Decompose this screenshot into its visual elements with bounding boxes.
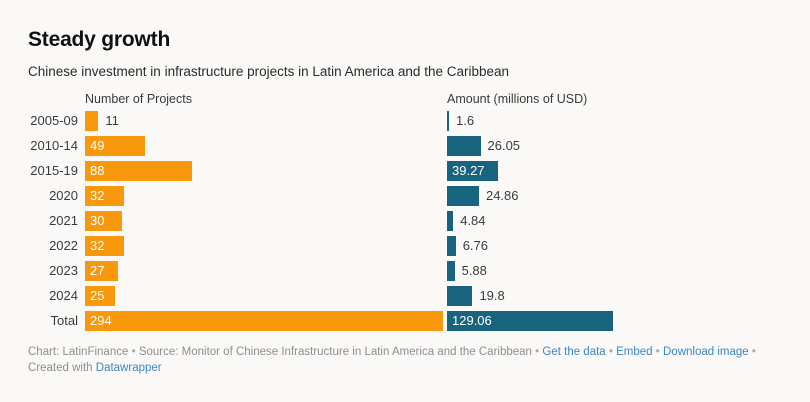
bar-amount[interactable]: [447, 286, 472, 306]
footer-separator: •: [752, 346, 756, 358]
bar-value-label: 19.8: [479, 286, 504, 306]
chart-subtitle: Chinese investment in infrastructure pro…: [28, 63, 509, 81]
bar-track-projects: 294: [85, 311, 445, 331]
bar-track-amount: 4.84: [447, 211, 800, 231]
bar-value-label: 39.27: [452, 161, 485, 181]
bar-projects[interactable]: [85, 311, 443, 331]
bar-track-amount: 6.76: [447, 236, 800, 256]
chart-row: 20203224.86: [0, 185, 810, 210]
row-label: 2024: [0, 285, 78, 307]
row-label: 2020: [0, 185, 78, 207]
embed-link[interactable]: Embed: [616, 346, 652, 358]
row-label: Total: [0, 310, 78, 332]
bar-value-label: 4.84: [460, 211, 485, 231]
page-title: Steady growth: [28, 27, 170, 53]
bar-value-label: 129.06: [452, 311, 492, 331]
row-label: 2005-09: [0, 110, 78, 132]
bar-amount[interactable]: [447, 136, 481, 156]
row-label: 2022: [0, 235, 78, 257]
bar-value-label: 26.05: [488, 136, 521, 156]
datawrapper-link[interactable]: Datawrapper: [96, 362, 162, 374]
bar-track-projects: 32: [85, 236, 445, 256]
chart-rows: 2005-09111.62010-144926.052015-198839.27…: [0, 110, 810, 335]
chart-footer: Chart: LatinFinance • Source: Monitor of…: [28, 344, 788, 376]
bar-track-projects: 32: [85, 186, 445, 206]
bar-amount[interactable]: [447, 111, 449, 131]
chart-row: 2021304.84: [0, 210, 810, 235]
download-image-link[interactable]: Download image: [663, 346, 749, 358]
bar-value-label: 11: [105, 111, 119, 131]
bar-track-amount: 129.06: [447, 311, 800, 331]
footer-separator: •: [656, 346, 660, 358]
bar-track-projects: 49: [85, 136, 445, 156]
bar-track-amount: 24.86: [447, 186, 800, 206]
bar-value-label: 294: [90, 311, 112, 331]
chart-row: Total294129.06: [0, 310, 810, 335]
column-header-projects: Number of Projects: [85, 91, 192, 107]
bar-value-label: 30: [90, 211, 104, 231]
chart-row: 20242519.8: [0, 285, 810, 310]
bar-value-label: 6.76: [463, 236, 488, 256]
bar-value-label: 5.88: [462, 261, 487, 281]
bar-track-amount: 5.88: [447, 261, 800, 281]
bar-track-projects: 30: [85, 211, 445, 231]
footer-credit: Chart: LatinFinance: [28, 346, 128, 358]
footer-separator: •: [535, 346, 539, 358]
row-label: 2023: [0, 260, 78, 282]
chart-row: 2015-198839.27: [0, 160, 810, 185]
bar-track-amount: 1.6: [447, 111, 800, 131]
chart-row: 2023275.88: [0, 260, 810, 285]
bar-track-amount: 39.27: [447, 161, 800, 181]
chart-row: 2005-09111.6: [0, 110, 810, 135]
row-label: 2015-19: [0, 160, 78, 182]
bar-track-projects: 11: [85, 111, 445, 131]
bar-value-label: 49: [90, 136, 104, 156]
footer-separator: •: [609, 346, 613, 358]
bar-value-label: 1.6: [456, 111, 474, 131]
footer-created-with: Created with: [28, 362, 93, 374]
bar-track-projects: 25: [85, 286, 445, 306]
footer-source: Source: Monitor of Chinese Infrastructur…: [139, 346, 532, 358]
column-header-amount: Amount (millions of USD): [447, 91, 587, 107]
bar-amount[interactable]: [447, 186, 479, 206]
bar-track-projects: 88: [85, 161, 445, 181]
row-label: 2021: [0, 210, 78, 232]
bar-track-projects: 27: [85, 261, 445, 281]
bar-track-amount: 26.05: [447, 136, 800, 156]
bar-amount[interactable]: [447, 236, 456, 256]
bar-amount[interactable]: [447, 211, 453, 231]
bar-track-amount: 19.8: [447, 286, 800, 306]
bar-value-label: 25: [90, 286, 104, 306]
bar-value-label: 27: [90, 261, 104, 281]
footer-separator: •: [132, 346, 136, 358]
bar-value-label: 24.86: [486, 186, 519, 206]
chart-container: Steady growth Chinese investment in infr…: [0, 0, 810, 402]
chart-row: 2010-144926.05: [0, 135, 810, 160]
get-the-data-link[interactable]: Get the data: [542, 346, 605, 358]
bar-value-label: 32: [90, 186, 104, 206]
bar-value-label: 88: [90, 161, 104, 181]
chart-row: 2022326.76: [0, 235, 810, 260]
bar-value-label: 32: [90, 236, 104, 256]
bar-projects[interactable]: [85, 111, 98, 131]
row-label: 2010-14: [0, 135, 78, 157]
bar-amount[interactable]: [447, 261, 455, 281]
